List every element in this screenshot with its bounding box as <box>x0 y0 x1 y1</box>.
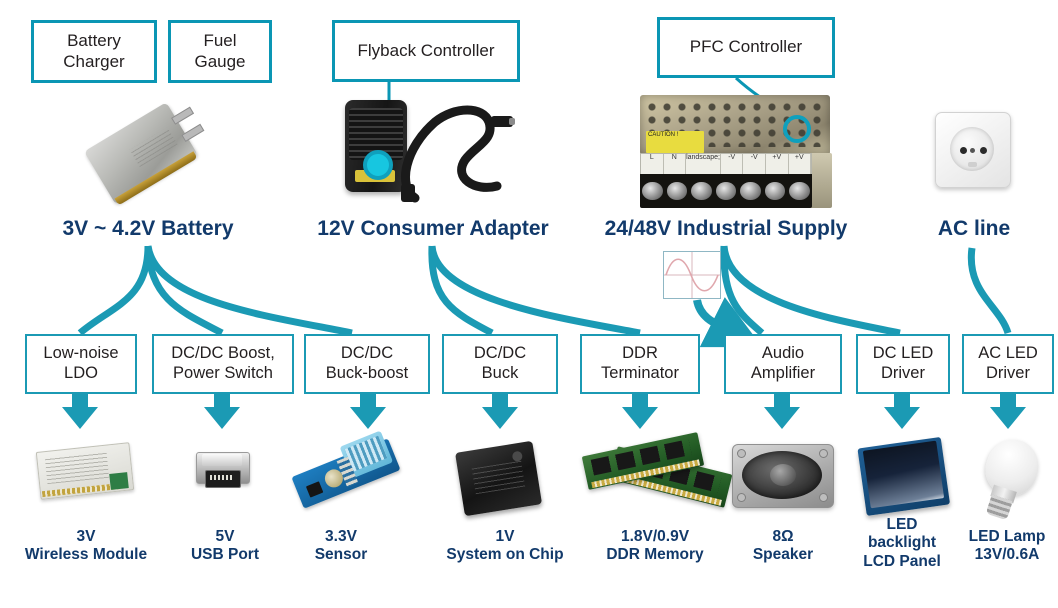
load-line-1: 3.3V <box>282 528 400 546</box>
converter-label: AC LED Driver <box>978 344 1038 384</box>
socket-earth-contact <box>968 162 977 167</box>
converter-label: DC LED Driver <box>873 344 934 384</box>
load-line-2: Wireless Module <box>0 546 172 564</box>
converter-line-1: AC LED <box>978 344 1038 362</box>
callout-line-1: Flyback Controller <box>358 41 495 61</box>
photo-ac-wall-socket <box>935 112 1015 192</box>
callout-label: Fuel Gauge <box>194 31 245 71</box>
converter-line-1: DC LED <box>873 344 934 362</box>
load-line-1: LED Lamp <box>956 528 1058 546</box>
load-line-1: 5V <box>160 528 290 546</box>
load-caption-lcd-panel: LED backlight LCD Panel <box>846 516 958 571</box>
photo-lcd-panel <box>857 436 956 520</box>
photo-ddr-memory-modules <box>584 434 744 512</box>
load-line-3: LCD Panel <box>846 553 958 571</box>
source-title-adapter: 12V Consumer Adapter <box>288 217 578 241</box>
converter-dcdc-boost[interactable]: DC/DC Boost, Power Switch <box>152 334 294 394</box>
usb-lip <box>202 454 242 466</box>
photo-oval-speaker <box>732 444 836 510</box>
photo-lithium-pouch-battery <box>84 90 228 220</box>
converter-line-1: DC/DC <box>341 344 393 362</box>
callout-fuel-gauge[interactable]: Fuel Gauge <box>168 20 272 83</box>
load-line-2: 13V/0.6A <box>956 546 1058 564</box>
converter-low-noise-ldo[interactable]: Low-noise LDO <box>25 334 137 394</box>
photo-wireless-module-card <box>38 447 136 499</box>
speaker-screw <box>737 493 746 502</box>
callout-pfc-controller[interactable]: PFC Controller <box>657 17 835 78</box>
converter-line-1: Audio <box>762 344 804 362</box>
converter-line-2: Amplifier <box>751 364 815 382</box>
callout-flyback-controller[interactable]: Flyback Controller <box>332 20 520 82</box>
converter-dcdc-buck-boost[interactable]: DC/DC Buck-boost <box>304 334 430 394</box>
sine-wave-icon <box>663 251 721 299</box>
photo-mini-usb-connector <box>196 452 252 492</box>
converter-line-1: DC/DC <box>474 344 526 362</box>
callout-battery-charger[interactable]: Battery Charger <box>31 20 157 83</box>
callout-line-1: Battery <box>67 31 121 50</box>
load-caption-led-lamp: LED Lamp 13V/0.6A <box>956 528 1058 565</box>
callout-line-1: PFC Controller <box>690 37 802 57</box>
load-line-2: Sensor <box>282 546 400 564</box>
converter-label: DDR Terminator <box>601 344 679 384</box>
socket-hole-center <box>970 148 975 153</box>
flyback-ic-marker-icon <box>363 150 393 180</box>
socket-hole-live <box>960 147 967 154</box>
source-title-acline: AC line <box>900 217 1048 241</box>
converter-ddr-terminator[interactable]: DDR Terminator <box>580 334 700 394</box>
load-caption-ddr-memory: 1.8V/0.9V DDR Memory <box>576 528 734 565</box>
converter-line-2: Driver <box>986 364 1030 382</box>
converter-line-1: DC/DC Boost, <box>171 344 275 362</box>
load-line-2: backlight <box>846 534 958 552</box>
converter-label: DC/DC Boost, Power Switch <box>171 344 275 384</box>
load-line-1: 8Ω <box>722 528 844 546</box>
converter-line-2: LDO <box>64 364 98 382</box>
converter-line-2: Buck-boost <box>326 364 409 382</box>
source-title-industrial: 24/48V Industrial Supply <box>580 217 872 241</box>
usb-pins <box>210 475 234 480</box>
photo-bga-chip <box>455 440 549 522</box>
load-line-1: 1.8V/0.9V <box>576 528 734 546</box>
wmod-shield <box>109 472 129 490</box>
photo-led-bulb <box>971 433 1053 530</box>
converter-line-1: DDR <box>622 344 658 362</box>
converter-dcdc-buck[interactable]: DC/DC Buck <box>442 334 558 394</box>
socket-hole-neutral <box>980 147 987 154</box>
converter-label: DC/DC Buck <box>474 344 526 384</box>
power-architecture-diagram: Battery Charger Fuel Gauge Flyback Contr… <box>0 0 1058 608</box>
converter-label: Low-noise LDO <box>43 344 118 384</box>
load-caption-speaker: 8Ω Speaker <box>722 528 844 565</box>
photo-ac-dc-wall-adapter <box>345 100 515 205</box>
load-line-2: DDR Memory <box>576 546 734 564</box>
load-caption-usb-port: 5V USB Port <box>160 528 290 565</box>
speaker-screw <box>737 449 746 458</box>
speaker-dust-cap <box>770 464 796 486</box>
load-caption-system-on-chip: 1V System on Chip <box>422 528 588 565</box>
load-line-2: System on Chip <box>422 546 588 564</box>
load-line-2: USB Port <box>160 546 290 564</box>
photo-sensor-board <box>291 436 410 520</box>
load-caption-sensor: 3.3V Sensor <box>282 528 400 565</box>
psu-terminal-screws <box>640 174 812 208</box>
psu-terminal-labels: LN landscape;-V-V+V+V <box>640 153 812 175</box>
converter-line-2: Buck <box>482 364 519 382</box>
photo-industrial-power-supply: CAUTION ! LN landscape;-V-V+V+V <box>640 95 840 213</box>
source-title-battery: 3V ~ 4.2V Battery <box>0 217 296 241</box>
converter-dc-led-driver[interactable]: DC LED Driver <box>856 334 950 394</box>
load-line-1: LED <box>846 516 958 534</box>
load-line-1: 1V <box>422 528 588 546</box>
callout-line-2: Charger <box>63 52 124 71</box>
converter-label: DC/DC Buck-boost <box>326 344 409 384</box>
converter-ac-led-driver[interactable]: AC LED Driver <box>962 334 1054 394</box>
lcd-screen <box>863 441 944 509</box>
psu-caution-label: CAUTION ! <box>646 131 704 153</box>
load-line-2: Speaker <box>722 546 844 564</box>
load-line-1: 3V <box>0 528 172 546</box>
converter-line-2: Driver <box>881 364 925 382</box>
speaker-screw <box>819 449 828 458</box>
callout-line-1: Fuel <box>203 31 236 50</box>
converter-line-1: Low-noise <box>43 344 118 362</box>
pfc-ic-marker-icon <box>783 115 811 143</box>
callout-line-2: Gauge <box>194 52 245 71</box>
converter-audio-amplifier[interactable]: Audio Amplifier <box>724 334 842 394</box>
callout-label: Battery Charger <box>63 31 124 71</box>
adapter-cable <box>391 100 515 204</box>
converter-line-2: Power Switch <box>173 364 273 382</box>
speaker-screw <box>819 493 828 502</box>
load-caption-wireless-module: 3V Wireless Module <box>0 528 172 565</box>
converter-line-2: Terminator <box>601 364 679 382</box>
converter-label: Audio Amplifier <box>751 344 815 384</box>
